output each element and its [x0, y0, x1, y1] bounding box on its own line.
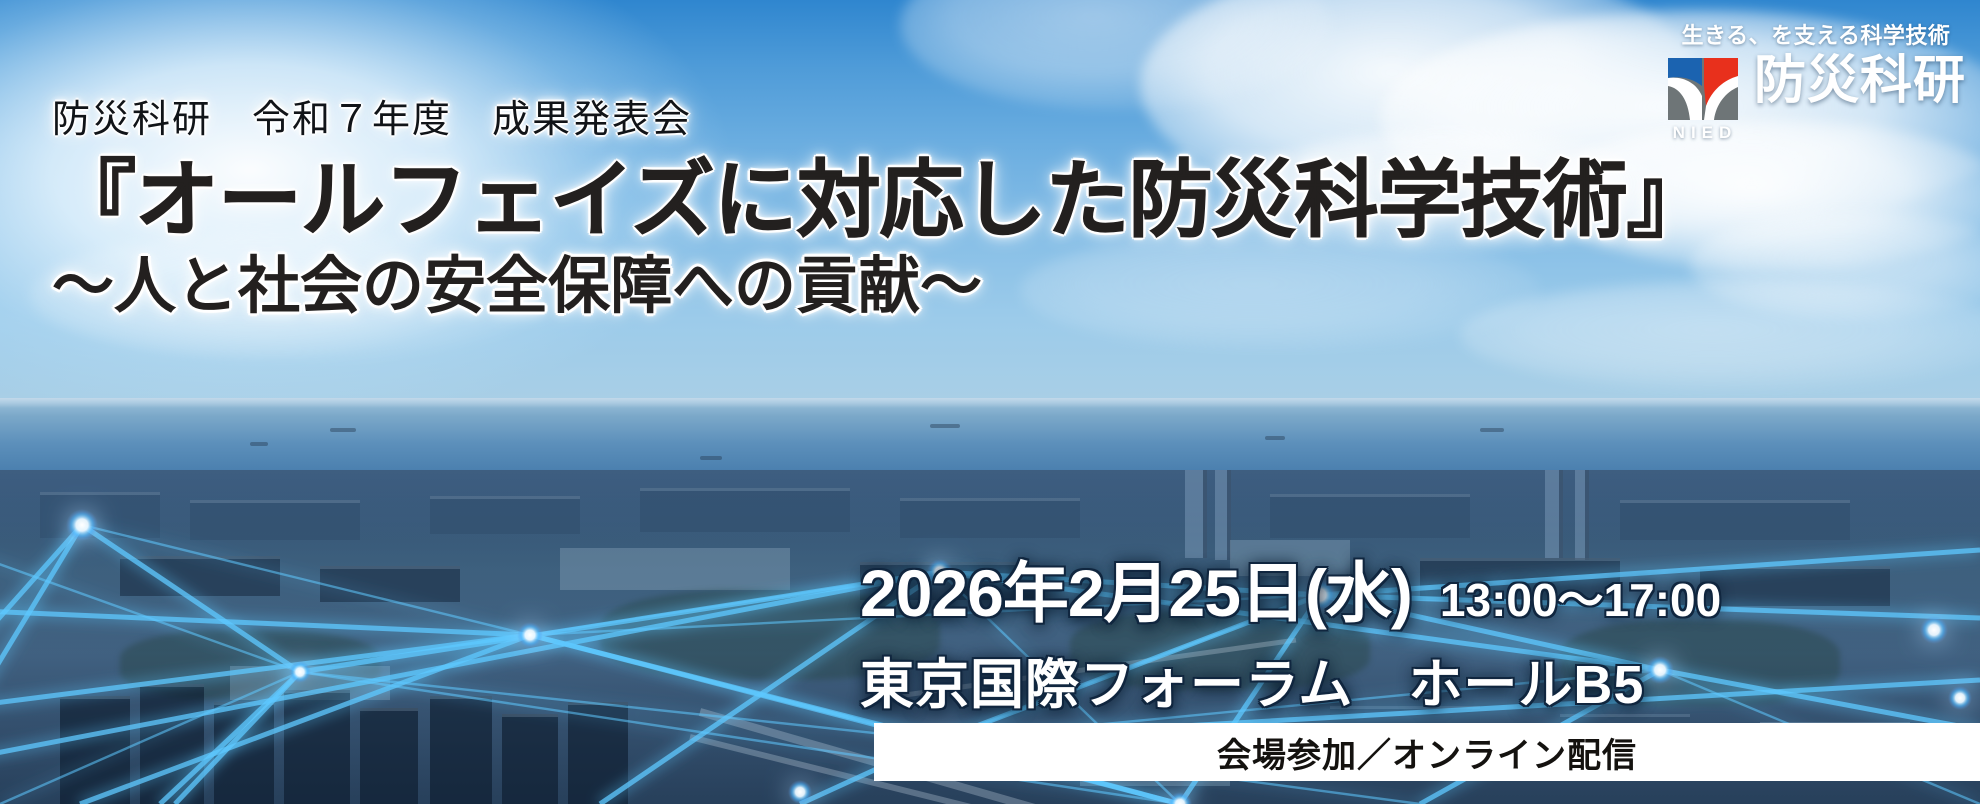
- event-datetime-row: 2026年2月25日(水) 13:00〜17:00: [860, 540, 1980, 636]
- nied-logo: 生きる、を支える科学技術 NIED 防災科研: [1666, 18, 1966, 143]
- event-banner: 生きる、を支える科学技術 NIED 防災科研 防災科研 令和７年度 成果発表会: [0, 0, 1980, 804]
- network-node: [788, 780, 812, 804]
- event-details: 2026年2月25日(水) 13:00〜17:00 東京国際フォーラム ホールB…: [860, 540, 1980, 719]
- logo-abbreviation: NIED: [1666, 123, 1740, 143]
- network-node: [66, 509, 98, 541]
- participation-banner: 会場参加／オンライン配信: [874, 723, 1980, 781]
- ship-silhouette: [930, 424, 960, 428]
- network-node: [517, 622, 543, 648]
- event-title: 『オールフェイズに対応した防災科学技術』: [52, 155, 1572, 246]
- event-venue: 東京国際フォーラム ホールB5: [860, 640, 1980, 719]
- event-subtitle: 〜人と社会の安全保障への貢献〜: [52, 250, 1572, 323]
- heading-group: 防災科研 令和７年度 成果発表会 『オールフェイズに対応した防災科学技術』 〜人…: [52, 88, 1572, 323]
- participation-label: 会場参加／オンライン配信: [1217, 728, 1637, 777]
- logo-tagline: 生きる、を支える科学技術: [1666, 18, 1966, 50]
- event-eyebrow: 防災科研 令和７年度 成果発表会: [52, 88, 1572, 143]
- network-node: [289, 661, 311, 683]
- nied-logo-mark-icon: [1666, 56, 1740, 122]
- logo-organization-name: 防災科研: [1754, 56, 1966, 107]
- event-date: 2026年2月25日(水): [860, 540, 1412, 636]
- cloud-shape: [1690, 210, 1980, 320]
- event-time: 13:00〜17:00: [1440, 564, 1721, 630]
